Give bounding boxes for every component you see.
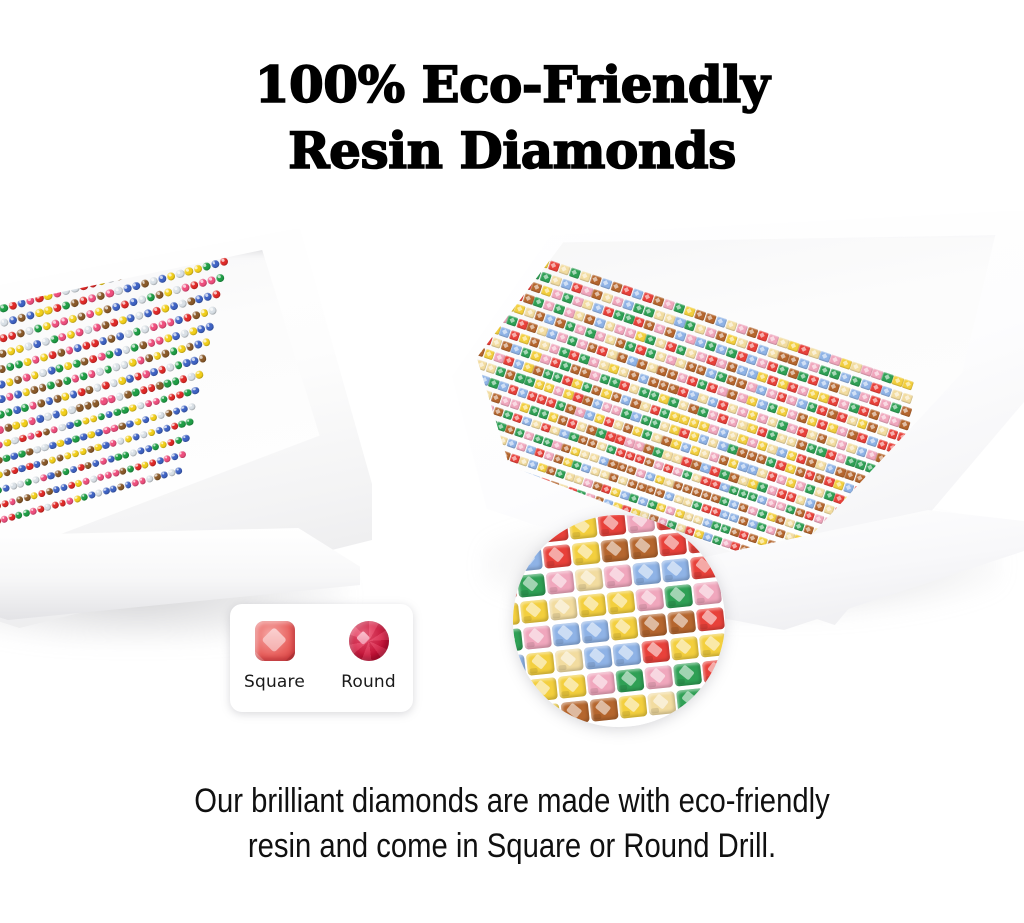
drill-bead bbox=[756, 412, 768, 424]
drill-bead bbox=[185, 342, 195, 352]
drill-bead bbox=[110, 250, 121, 252]
closeup-drill-bead bbox=[719, 552, 725, 576]
closeup-drill-bead bbox=[540, 518, 569, 542]
closeup-drill-bead bbox=[626, 515, 655, 533]
drill-bead bbox=[169, 301, 179, 311]
drill-bead bbox=[51, 303, 61, 313]
drill-bead bbox=[45, 381, 55, 391]
closeup-drill-bead bbox=[716, 526, 725, 550]
drill-bead bbox=[498, 257, 511, 269]
drill-bead bbox=[136, 447, 145, 456]
caption: Our brilliant diamonds are made with eco… bbox=[72, 779, 953, 869]
drill-bead bbox=[104, 289, 114, 299]
drill-bead bbox=[25, 311, 35, 321]
drill-bead bbox=[46, 250, 57, 255]
square-drill-closeup bbox=[513, 515, 725, 727]
drill-bead bbox=[144, 354, 154, 364]
drill-bead bbox=[147, 429, 156, 438]
closeup-drill-bead bbox=[673, 662, 702, 686]
drill-bead bbox=[201, 262, 211, 272]
closeup-drill-bead bbox=[569, 515, 598, 539]
drill-bead bbox=[475, 236, 488, 248]
drill-bead bbox=[64, 254, 75, 265]
drill-bead bbox=[60, 392, 69, 401]
drill-bead bbox=[55, 454, 64, 463]
drill-bead bbox=[477, 250, 490, 262]
drill-bead bbox=[91, 250, 102, 257]
drill-bead bbox=[181, 434, 190, 443]
drill-bead bbox=[496, 243, 509, 255]
drill-bead bbox=[170, 452, 179, 461]
drill-bead bbox=[129, 449, 138, 458]
drill-bead bbox=[125, 374, 134, 383]
drill-bead bbox=[185, 418, 194, 427]
drill-bead bbox=[109, 318, 119, 328]
drill-bead bbox=[100, 320, 110, 330]
drill-bead bbox=[902, 379, 915, 391]
drill-bead bbox=[188, 402, 197, 411]
drill-bead bbox=[175, 466, 183, 474]
drill-bead bbox=[111, 363, 121, 373]
drill-bead bbox=[54, 379, 64, 389]
drill-bead bbox=[165, 363, 174, 372]
closeup-drill-bead bbox=[644, 665, 673, 689]
drill-bead bbox=[160, 349, 170, 359]
drill-bead bbox=[82, 250, 93, 260]
closeup-drill-bead bbox=[513, 654, 526, 678]
closeup-drill-bead bbox=[513, 602, 520, 626]
closeup-drill-bead bbox=[687, 529, 716, 553]
closeup-drill-bead bbox=[670, 636, 699, 660]
drill-bead bbox=[34, 308, 44, 318]
drill-bead bbox=[69, 465, 78, 474]
drill-bead bbox=[466, 244, 469, 256]
drill-bead bbox=[46, 260, 57, 271]
closeup-drill-bead bbox=[543, 544, 572, 568]
drill-bead bbox=[86, 446, 95, 455]
closeup-drill-bead bbox=[552, 622, 581, 646]
drill-bead bbox=[73, 252, 84, 263]
drill-bead bbox=[63, 452, 72, 461]
drill-bead bbox=[173, 361, 182, 370]
closeup-drill-bead bbox=[587, 671, 616, 695]
legend-label-square: Square bbox=[244, 672, 305, 692]
drill-bead bbox=[168, 347, 178, 357]
closeup-drill-bead bbox=[658, 532, 687, 556]
drill-bead bbox=[32, 339, 42, 349]
closeup-drill-bead bbox=[513, 680, 529, 704]
closeup-drill-bead bbox=[609, 616, 638, 640]
closeup-drill-bead bbox=[597, 515, 626, 536]
closeup-drill-bead bbox=[667, 610, 696, 634]
drill-bead bbox=[149, 367, 158, 376]
drill-bead bbox=[193, 340, 203, 350]
drill-bead bbox=[70, 450, 79, 459]
drill-bead bbox=[0, 250, 2, 255]
drill-bead bbox=[175, 269, 185, 279]
closeup-drill-bead bbox=[664, 584, 693, 608]
closeup-drill-bead bbox=[517, 573, 546, 597]
drill-bead bbox=[176, 345, 186, 355]
closeup-drill-bead bbox=[647, 691, 676, 715]
drill-bead bbox=[0, 275, 1, 286]
drill-bead bbox=[44, 396, 53, 405]
drill-bead bbox=[469, 261, 481, 273]
drill-bead bbox=[466, 302, 478, 314]
drill-bead bbox=[157, 274, 167, 284]
drill-bead bbox=[109, 378, 118, 387]
closeup-drill-bead bbox=[537, 515, 566, 516]
drill-bead bbox=[487, 254, 500, 266]
drill-bead bbox=[10, 467, 19, 476]
page-title: 100% Eco-Friendly Resin Diamonds bbox=[0, 52, 1024, 184]
drill-bead bbox=[48, 456, 57, 465]
drill-bead bbox=[898, 419, 910, 431]
drill-bead bbox=[93, 443, 102, 452]
drill-bead bbox=[647, 376, 659, 388]
drill-bead bbox=[116, 437, 125, 446]
closeup-drill-bead bbox=[581, 619, 610, 643]
closeup-drill-bead bbox=[690, 555, 719, 579]
drill-bead bbox=[124, 435, 133, 444]
drill-bead bbox=[166, 438, 175, 447]
square-gem-icon bbox=[255, 621, 295, 661]
drill-bead bbox=[189, 356, 198, 365]
drill-bead bbox=[0, 272, 11, 283]
closeup-drill-bead bbox=[655, 515, 684, 530]
headline-line-1: 100% Eco-Friendly bbox=[0, 52, 1024, 118]
drill-bead bbox=[62, 376, 72, 386]
closeup-drill-bead bbox=[549, 596, 578, 620]
drill-type-legend: Square Round bbox=[230, 604, 413, 712]
closeup-drill-bead bbox=[699, 633, 725, 657]
legend-items: Square Round bbox=[242, 621, 402, 692]
drill-bead bbox=[0, 395, 6, 405]
drill-bead bbox=[212, 289, 222, 299]
drill-bead bbox=[60, 301, 70, 311]
drill-bead bbox=[19, 252, 30, 263]
drill-bead bbox=[20, 403, 29, 412]
drill-bead bbox=[61, 467, 70, 476]
drill-bead bbox=[1, 250, 12, 253]
closeup-drill-bead bbox=[702, 659, 725, 683]
drill-bead bbox=[131, 281, 141, 291]
caption-line-2: resin and come in Square or Round Drill. bbox=[72, 824, 953, 869]
drill-bead bbox=[490, 268, 502, 280]
drill-bead bbox=[183, 267, 193, 277]
drill-bead bbox=[163, 379, 172, 388]
closeup-drill-bead bbox=[523, 625, 552, 649]
drill-bead bbox=[37, 250, 48, 257]
drill-bead bbox=[466, 258, 471, 270]
closeup-drill-bead bbox=[618, 694, 647, 718]
closeup-drill-bead bbox=[696, 607, 725, 631]
drill-bead bbox=[208, 305, 218, 315]
round-gem-icon bbox=[349, 621, 389, 661]
drill-bead bbox=[95, 367, 105, 377]
drill-bead bbox=[70, 374, 80, 384]
drill-bead bbox=[201, 338, 211, 348]
drill-bead bbox=[0, 318, 9, 328]
drill-bead bbox=[467, 247, 480, 259]
drill-bead bbox=[1, 484, 10, 493]
drill-bead bbox=[191, 386, 200, 395]
drill-bead bbox=[40, 337, 50, 347]
drill-bead bbox=[485, 239, 498, 251]
closeup-drill-bead bbox=[705, 685, 725, 709]
drill-bead bbox=[43, 412, 52, 421]
closeup-drill-bead bbox=[514, 547, 543, 571]
drill-bead bbox=[119, 360, 129, 370]
drill-bead bbox=[177, 299, 187, 309]
drill-bead bbox=[466, 287, 476, 299]
closeup-drill-bead bbox=[693, 581, 722, 605]
closeup-drill-bead bbox=[513, 515, 537, 519]
drill-bead bbox=[900, 406, 912, 418]
closeup-drill-bead bbox=[532, 703, 561, 727]
drill-bead bbox=[500, 272, 512, 284]
drill-bead bbox=[466, 273, 474, 285]
drill-bead bbox=[43, 306, 53, 316]
drill-bead bbox=[1, 499, 10, 508]
legend-item-square[interactable]: Square bbox=[242, 621, 308, 692]
drill-bead bbox=[508, 261, 521, 273]
closeup-drill-bead bbox=[513, 706, 532, 727]
drill-bead bbox=[466, 327, 473, 338]
drill-bead bbox=[40, 458, 49, 467]
drill-bead bbox=[466, 232, 477, 244]
round-gem-facets bbox=[349, 621, 389, 661]
promo-banner: 100% Eco-Friendly Resin Diamonds bbox=[0, 0, 1024, 923]
drill-bead bbox=[471, 276, 483, 288]
drill-bead bbox=[506, 246, 519, 258]
drill-bead bbox=[87, 294, 97, 304]
closeup-drill-bead bbox=[661, 558, 690, 582]
closeup-drill-bead bbox=[575, 567, 604, 591]
closeup-drill-bead bbox=[722, 578, 725, 602]
drill-bead bbox=[166, 272, 176, 282]
drill-bead bbox=[18, 267, 29, 278]
drill-bead bbox=[55, 257, 66, 268]
drill-bead bbox=[109, 439, 118, 448]
drill-bead bbox=[29, 385, 39, 395]
drill-bead bbox=[78, 296, 88, 306]
drill-bead bbox=[78, 448, 87, 457]
drill-bead bbox=[0, 257, 11, 268]
drill-bead bbox=[178, 450, 187, 459]
drill-bead bbox=[900, 392, 913, 404]
closeup-drill-bead bbox=[684, 515, 713, 527]
drill-bead bbox=[466, 298, 468, 310]
closeup-drill-bead bbox=[641, 639, 670, 663]
closeup-drill-bead bbox=[555, 648, 584, 672]
closeup-drill-bead bbox=[584, 645, 613, 669]
closeup-drill-bead bbox=[635, 587, 664, 611]
closeup-drill-bead bbox=[526, 651, 555, 675]
closeup-drill-bead bbox=[546, 570, 575, 594]
drill-bead bbox=[131, 433, 140, 442]
drill-bead bbox=[85, 385, 94, 394]
drill-bead bbox=[474, 291, 486, 303]
drill-bead bbox=[139, 279, 149, 289]
closeup-drill-bead bbox=[513, 521, 540, 545]
drill-bead bbox=[148, 277, 158, 287]
drill-bead bbox=[177, 420, 186, 429]
drill-bead bbox=[152, 351, 162, 361]
closeup-drill-bead bbox=[529, 677, 558, 701]
closeup-drill-bead bbox=[590, 697, 619, 721]
closeup-drill-bead bbox=[558, 674, 587, 698]
closeup-drill-bead bbox=[513, 628, 523, 652]
closeup-drill-field bbox=[513, 515, 725, 727]
drill-bead bbox=[95, 291, 105, 301]
closeup-drill-bead bbox=[520, 599, 549, 623]
closeup-drill-bead bbox=[561, 700, 590, 724]
drill-bead bbox=[466, 313, 471, 325]
closeup-drill-bead bbox=[612, 642, 641, 666]
drill-bead bbox=[154, 427, 163, 436]
drill-bead bbox=[479, 265, 491, 277]
closeup-drill-bead bbox=[600, 538, 629, 562]
drill-bead bbox=[9, 270, 20, 281]
drill-bead bbox=[139, 431, 148, 440]
drill-bead bbox=[37, 262, 48, 273]
drill-bead bbox=[4, 392, 14, 402]
drill-bead bbox=[11, 421, 20, 430]
caption-line-1: Our brilliant diamonds are made with eco… bbox=[72, 779, 953, 824]
drill-bead bbox=[162, 424, 171, 433]
drill-bead bbox=[13, 390, 23, 400]
drill-bead bbox=[21, 388, 31, 398]
drill-bead bbox=[27, 265, 38, 276]
drill-bead bbox=[122, 284, 132, 294]
drill-bead bbox=[32, 460, 41, 469]
closeup-drill-bead bbox=[713, 515, 725, 524]
drill-bead bbox=[482, 279, 494, 291]
legend-label-round: Round bbox=[341, 672, 396, 692]
drill-bead bbox=[484, 294, 496, 306]
drill-bead bbox=[756, 481, 768, 492]
drill-bead bbox=[538, 339, 550, 351]
drill-bead bbox=[56, 250, 67, 252]
closeup-drill-bead bbox=[629, 535, 658, 559]
closeup-drill-bead bbox=[606, 590, 635, 614]
drill-bead bbox=[127, 358, 137, 368]
drill-bead bbox=[86, 370, 96, 380]
drill-bead bbox=[195, 370, 204, 379]
drill-bead bbox=[99, 457, 108, 466]
closeup-drill-bead bbox=[615, 668, 644, 692]
drill-bead bbox=[28, 250, 39, 260]
drill-bead bbox=[9, 254, 20, 265]
headline-line-2: Resin Diamonds bbox=[0, 118, 1024, 184]
drill-bead bbox=[2, 469, 11, 478]
drill-bead bbox=[78, 372, 88, 382]
drill-bead bbox=[492, 283, 504, 295]
drill-bead bbox=[0, 260, 2, 271]
closeup-drill-bead bbox=[638, 613, 667, 637]
closeup-drill-bead bbox=[632, 561, 661, 585]
closeup-drill-bead bbox=[578, 593, 607, 617]
drill-bead bbox=[100, 250, 111, 255]
drill-bead bbox=[101, 381, 110, 390]
drill-bead bbox=[31, 476, 40, 485]
drill-bead bbox=[215, 273, 225, 283]
drill-bead bbox=[210, 260, 220, 270]
drill-bead bbox=[170, 422, 179, 431]
closeup-drill-bead bbox=[676, 688, 705, 712]
drill-bead bbox=[8, 316, 18, 326]
drill-bead bbox=[136, 356, 146, 366]
round-drill-tray bbox=[0, 228, 390, 648]
drill-bead bbox=[17, 465, 26, 474]
drill-bead bbox=[37, 383, 47, 393]
drill-bead bbox=[16, 313, 26, 323]
drill-bead bbox=[469, 316, 481, 328]
drill-bead bbox=[69, 299, 79, 309]
drill-bead bbox=[103, 365, 113, 375]
drill-bead bbox=[476, 305, 488, 317]
drill-bead bbox=[516, 250, 529, 262]
closeup-drill-bead bbox=[603, 564, 632, 588]
drill-bead bbox=[131, 388, 140, 397]
drill-bead bbox=[205, 321, 215, 331]
drill-bead bbox=[198, 354, 207, 363]
drill-bead bbox=[113, 286, 123, 296]
drill-bead bbox=[192, 264, 202, 274]
legend-item-round[interactable]: Round bbox=[336, 621, 402, 692]
drill-bead bbox=[36, 399, 45, 408]
closeup-drill-bead bbox=[572, 541, 601, 565]
